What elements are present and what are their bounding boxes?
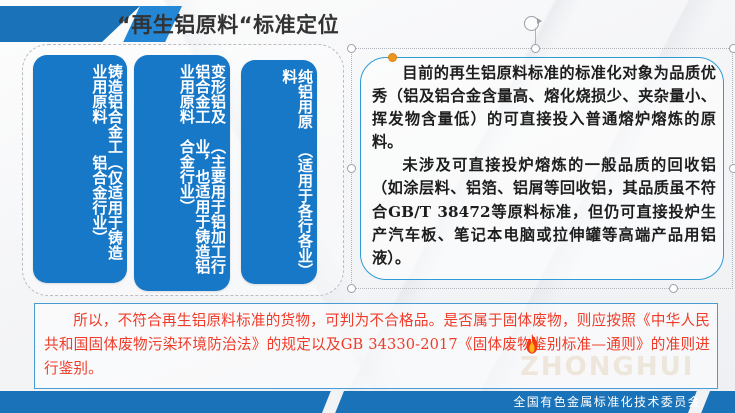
resize-handle-top-right[interactable] [729, 44, 735, 53]
category-card-wrought-aluminium[interactable]: 变形铝及铝合金工业用原料 （主要用于铝加工行业，也适用于铸造铝合金行业） [134, 55, 230, 291]
category-card-pure-aluminium[interactable]: 纯铝用原料 （适用于各行各业） [241, 60, 317, 284]
resize-handle-bottom-center[interactable] [669, 284, 678, 293]
description-paragraph-2: 未涉及可直接投炉熔炼的一般品质的回收铝（如涂层料、铝箔、铝屑等回收铝，其品质虽不… [372, 154, 716, 269]
resize-handle-top-left[interactable] [347, 44, 356, 53]
description-panel-text: 目前的再生铝原料标准的标准化对象为品质优秀（铝及铝合金含量高、熔化烧损少、夹杂量… [372, 62, 716, 277]
rotation-handle-icon[interactable] [524, 16, 539, 31]
shape-adjust-handle[interactable] [388, 53, 397, 62]
category-card-cast-aluminium[interactable]: 铸造铝合金工业用原料 （仅适用于铸造铝合金行业） [33, 55, 127, 283]
category-card-note-label: （仅适用于铸造铝合金行业） [91, 155, 122, 274]
resize-handle-middle-right[interactable] [729, 164, 735, 173]
category-card-main-label: 纯铝用原料 [281, 69, 312, 143]
resize-handle-bottom-left[interactable] [347, 284, 356, 293]
category-card-main-label: 变形铝及铝合金工业用原料 [178, 64, 225, 139]
slide-canvas: “再生铝原料“标准定位 铸造铝合金工业用原料 （仅适用于铸造铝合金行业） 变形铝… [0, 0, 735, 413]
page-title: “再生铝原料“标准定位 [117, 9, 339, 39]
category-card-note-label: （适用于各行各业） [296, 143, 312, 275]
category-card-main-label: 铸造铝合金工业用原料 [91, 64, 122, 155]
category-card-note-label: （主要用于铝加工行业，也适用于铸造铝合金行业） [178, 139, 225, 282]
conclusion-text: 所以，不符合再生铝原料标准的货物，可判为不合格品。是否属于固体废物，则应按照《中… [44, 309, 710, 387]
footer-organization-label: 全国有色金属标准化技术委员会 [513, 393, 701, 410]
resize-handle-middle-left[interactable] [347, 164, 356, 173]
resize-handle-top-center[interactable] [531, 44, 540, 53]
description-paragraph-1: 目前的再生铝原料标准的标准化对象为品质优秀（铝及铝合金含量高、熔化烧损少、夹杂量… [372, 62, 716, 154]
